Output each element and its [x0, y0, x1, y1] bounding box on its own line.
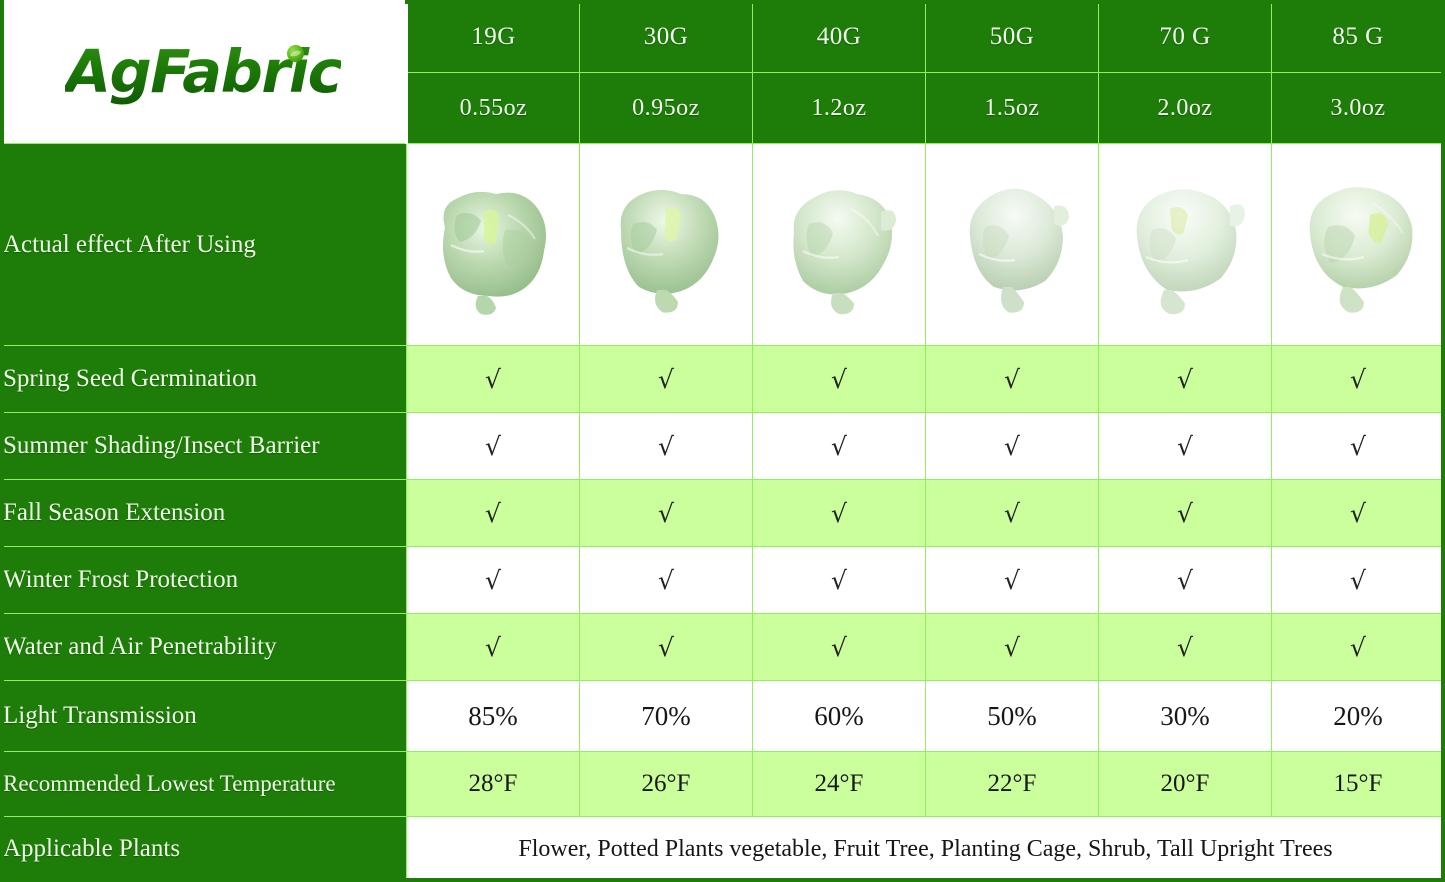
row-label-winter-frost-protection: Winter Frost Protection	[2, 547, 407, 614]
plant-cover-photo-19g	[418, 170, 568, 320]
plant-cover-photo-70g	[1110, 170, 1260, 320]
applicable-plants-value: Flower, Potted Plants vegetable, Fruit T…	[407, 817, 1445, 882]
light-transmission-40g: 60%	[753, 681, 926, 752]
check-winter-85g: √	[1272, 547, 1445, 614]
check-fall-85g: √	[1272, 480, 1445, 547]
photo-cell-50g	[926, 144, 1099, 346]
brand-logo-cell: AgFabric	[2, 1, 407, 144]
column-header-gsm-2: 30G	[580, 1, 753, 73]
check-winter-70g: √	[1099, 547, 1272, 614]
check-summer-85g: √	[1272, 413, 1445, 480]
temperature-50g: 22°F	[926, 752, 1099, 817]
check-spring-19g: √	[407, 346, 580, 413]
table-row-water-air-penetrability: Water and Air Penetrability √ √ √ √ √ √	[2, 614, 1445, 681]
column-header-gsm-4: 50G	[926, 1, 1099, 73]
photo-cell-85g	[1272, 144, 1445, 346]
check-spring-50g: √	[926, 346, 1099, 413]
column-header-weight-4: 1.5oz	[926, 73, 1099, 144]
plant-cover-photo-40g	[764, 170, 914, 320]
light-transmission-85g: 20%	[1272, 681, 1445, 752]
check-fall-30g: √	[580, 480, 753, 547]
column-header-weight-6: 3.0oz	[1272, 73, 1445, 144]
column-header-gsm-5: 70 G	[1099, 1, 1272, 73]
table-row-fall-season-extension: Fall Season Extension √ √ √ √ √ √	[2, 480, 1445, 547]
photo-cell-19g	[407, 144, 580, 346]
light-transmission-30g: 70%	[580, 681, 753, 752]
check-spring-85g: √	[1272, 346, 1445, 413]
check-fall-40g: √	[753, 480, 926, 547]
column-header-weight-2: 0.95oz	[580, 73, 753, 144]
product-comparison-sheet: AgFabric 19G 30G 40G 50G 70 G 85 G 0.55o…	[0, 0, 1445, 882]
check-spring-70g: √	[1099, 346, 1272, 413]
plant-cover-photo-50g	[937, 170, 1087, 320]
table-row-light-transmission: Light Transmission 85% 70% 60% 50% 30% 2…	[2, 681, 1445, 752]
row-label-light-transmission: Light Transmission	[2, 681, 407, 752]
light-transmission-70g: 30%	[1099, 681, 1272, 752]
check-summer-70g: √	[1099, 413, 1272, 480]
check-winter-30g: √	[580, 547, 753, 614]
table-row-actual-effect: Actual effect After Using	[2, 144, 1445, 346]
check-fall-50g: √	[926, 480, 1099, 547]
row-label-fall-season-extension: Fall Season Extension	[2, 480, 407, 547]
light-transmission-19g: 85%	[407, 681, 580, 752]
photo-cell-70g	[1099, 144, 1272, 346]
check-water-30g: √	[580, 614, 753, 681]
row-label-applicable-plants: Applicable Plants	[2, 817, 407, 882]
temperature-19g: 28°F	[407, 752, 580, 817]
header-row-gsm: AgFabric 19G 30G 40G 50G 70 G 85 G	[2, 1, 1445, 73]
temperature-70g: 20°F	[1099, 752, 1272, 817]
photo-cell-40g	[753, 144, 926, 346]
column-header-gsm-3: 40G	[753, 1, 926, 73]
globe-leaf-icon	[287, 45, 304, 62]
table-row-spring-seed-germination: Spring Seed Germination √ √ √ √ √ √	[2, 346, 1445, 413]
table-row-applicable-plants: Applicable Plants Flower, Potted Plants …	[2, 817, 1445, 882]
check-summer-30g: √	[580, 413, 753, 480]
column-header-weight-5: 2.0oz	[1099, 73, 1272, 144]
check-spring-40g: √	[753, 346, 926, 413]
table-row-summer-shading: Summer Shading/Insect Barrier √ √ √ √ √ …	[2, 413, 1445, 480]
check-winter-40g: √	[753, 547, 926, 614]
table-row-recommended-lowest-temperature: Recommended Lowest Temperature 28°F 26°F…	[2, 752, 1445, 817]
plant-cover-photo-85g	[1283, 170, 1433, 320]
temperature-30g: 26°F	[580, 752, 753, 817]
temperature-85g: 15°F	[1272, 752, 1445, 817]
row-label-summer-shading: Summer Shading/Insect Barrier	[2, 413, 407, 480]
temperature-40g: 24°F	[753, 752, 926, 817]
row-label-recommended-lowest-temperature: Recommended Lowest Temperature	[2, 752, 407, 817]
table-row-winter-frost-protection: Winter Frost Protection √ √ √ √ √ √	[2, 547, 1445, 614]
fabric-comparison-table: AgFabric 19G 30G 40G 50G 70 G 85 G 0.55o…	[0, 0, 1445, 882]
row-label-spring-seed-germination: Spring Seed Germination	[2, 346, 407, 413]
column-header-weight-3: 1.2oz	[753, 73, 926, 144]
logo-wrap: AgFabric	[55, 41, 351, 103]
check-winter-19g: √	[407, 547, 580, 614]
check-water-19g: √	[407, 614, 580, 681]
plant-cover-photo-30g	[591, 170, 741, 320]
check-water-70g: √	[1099, 614, 1272, 681]
column-header-gsm-1: 19G	[407, 1, 580, 73]
check-water-40g: √	[753, 614, 926, 681]
column-header-weight-1: 0.55oz	[407, 73, 580, 144]
row-label-water-air-penetrability: Water and Air Penetrability	[2, 614, 407, 681]
check-fall-70g: √	[1099, 480, 1272, 547]
check-summer-40g: √	[753, 413, 926, 480]
check-summer-19g: √	[407, 413, 580, 480]
row-label-actual-effect: Actual effect After Using	[2, 144, 407, 346]
check-water-50g: √	[926, 614, 1099, 681]
column-header-gsm-6: 85 G	[1272, 1, 1445, 73]
light-transmission-50g: 50%	[926, 681, 1099, 752]
check-water-85g: √	[1272, 614, 1445, 681]
check-summer-50g: √	[926, 413, 1099, 480]
check-winter-50g: √	[926, 547, 1099, 614]
check-spring-30g: √	[580, 346, 753, 413]
check-fall-19g: √	[407, 480, 580, 547]
photo-cell-30g	[580, 144, 753, 346]
